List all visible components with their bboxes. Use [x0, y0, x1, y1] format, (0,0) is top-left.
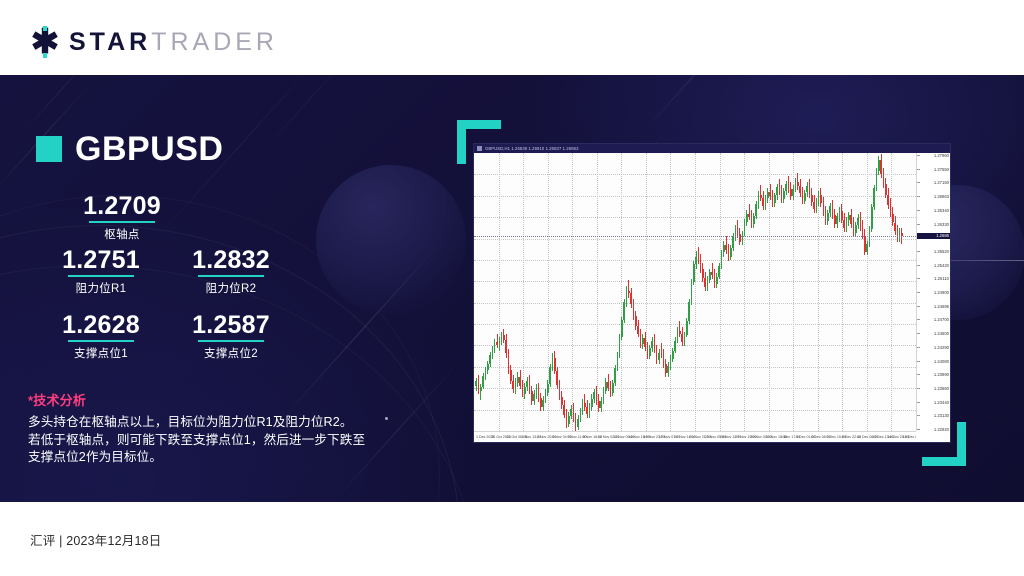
- candle-wick: [679, 321, 680, 337]
- price-tick-mark: [917, 347, 920, 348]
- levels-row-resistance: 1.2751 阻力位R1 1.2832 阻力位R2: [36, 246, 296, 311]
- page-title: GBPUSD: [36, 132, 223, 166]
- underline-rule: [68, 275, 134, 277]
- price-tick-label: 1.24695: [934, 304, 949, 309]
- price-tick-label: 1.23990: [934, 372, 949, 377]
- analysis-line-2: 若低于枢轴点，则可能下跌至支撑点位1，然后进一步下跌至: [28, 432, 408, 450]
- candlestick: [901, 153, 903, 431]
- asterisk-star-icon: ✱: [30, 27, 60, 57]
- price-tick-label: 1.24500: [934, 331, 949, 336]
- level-label: 阻力位R1: [36, 280, 166, 296]
- price-tick-mark: [917, 196, 920, 197]
- date-axis[interactable]: 1 Dec 202330 Oct 202331 Oct 06:001 Nov 1…: [474, 431, 916, 442]
- analysis-title: *技术分析: [28, 390, 408, 409]
- price-tick-label: 1.24900: [934, 290, 949, 295]
- level-value: 1.2832: [166, 246, 296, 274]
- price-tick-label: 1.26863: [934, 194, 949, 199]
- price-chart[interactable]: GBPUSD,H1 1.26839 1.26910 1.26837 1.2686…: [473, 143, 951, 443]
- price-tick-mark: [917, 265, 920, 266]
- brand-logo[interactable]: ✱ STARTRADER: [30, 27, 278, 57]
- price-tick-mark: [917, 388, 920, 389]
- price-tick-mark: [917, 361, 920, 362]
- level-value: 1.2751: [36, 246, 166, 274]
- level-cell-r2: 1.2832 阻力位R2: [166, 246, 296, 311]
- pivot-point-block: 1.2709 枢轴点: [52, 192, 192, 242]
- candlestick-series: [474, 153, 916, 431]
- candle-wick: [749, 204, 750, 220]
- price-tick-mark: [917, 155, 920, 156]
- price-tick-mark: [917, 278, 920, 279]
- brand-trader: TRADER: [151, 28, 278, 56]
- price-tick-label: 1.27150: [934, 180, 949, 185]
- slide-root: ✱ STARTRADER GBPUSD 1.2709: [0, 0, 1024, 576]
- price-tick-mark: [917, 292, 920, 293]
- candle-wick: [497, 334, 498, 347]
- decor-streak: [640, 75, 754, 136]
- pivot-label: 枢轴点: [52, 226, 192, 242]
- page-header: ✱ STARTRADER: [0, 0, 1024, 75]
- price-tick-label: 1.22920: [934, 427, 949, 432]
- level-label: 阻力位R2: [166, 280, 296, 296]
- level-value: 1.2587: [166, 311, 296, 339]
- price-tick-label: 1.25110: [934, 276, 949, 281]
- price-tick-mark: [917, 169, 920, 170]
- price-tick-mark: [917, 182, 920, 183]
- price-tick-label: 1.24080: [934, 359, 949, 364]
- price-tick-mark: [917, 429, 920, 430]
- price-tick-label: 1.27960: [934, 153, 949, 158]
- level-value: 1.2628: [36, 311, 166, 339]
- pivot-value: 1.2709: [52, 192, 192, 220]
- price-tick-label: 1.23660: [934, 386, 949, 391]
- candle-wick: [760, 185, 761, 201]
- brand-wordmark: STARTRADER: [69, 28, 278, 57]
- current-price-line: [474, 236, 916, 237]
- price-tick-mark: [917, 333, 920, 334]
- underline-rule: [198, 340, 264, 342]
- footer-caption: 汇评 | 2023年12月18日: [30, 530, 162, 549]
- decor-streak: [250, 75, 371, 166]
- page-footer: 汇评 | 2023年12月18日: [0, 502, 1024, 576]
- candle-wick: [661, 343, 662, 358]
- price-tick-label: 1.26330: [934, 222, 949, 227]
- price-tick-mark: [917, 402, 920, 403]
- price-tick-label: 1.24290: [934, 345, 949, 350]
- date-tick-label: 18 Dec 04:00: [903, 435, 916, 440]
- price-tick-mark: [917, 251, 920, 252]
- levels-grid: 1.2751 阻力位R1 1.2832 阻力位R2 1.2628 支撑点位1 1…: [36, 246, 296, 376]
- chart-window-icon: [477, 146, 482, 151]
- decor-planet-left: [316, 165, 466, 315]
- technical-analysis-block: *技术分析 多头持仓在枢轴点以上，目标位为阻力位R1及阻力位R2。 若低于枢轴点…: [28, 390, 408, 467]
- price-tick-mark: [917, 319, 920, 320]
- level-cell-s1: 1.2628 支撑点位1: [36, 311, 166, 376]
- price-axis[interactable]: 1.279601.275501.271501.268631.263401.263…: [916, 153, 950, 431]
- price-tick-label: 1.23440: [934, 400, 949, 405]
- brand-star: STAR: [69, 28, 151, 56]
- square-bullet-icon: [36, 136, 62, 162]
- levels-row-support: 1.2628 支撑点位1 1.2587 支撑点位2: [36, 311, 296, 376]
- level-cell-s2: 1.2587 支撑点位2: [166, 311, 296, 376]
- candle-wick: [712, 263, 713, 279]
- price-tick-label: 1.25520: [934, 249, 949, 254]
- price-tick-mark: [917, 415, 920, 416]
- chart-titlebar: GBPUSD,H1 1.26839 1.26910 1.26837 1.2686…: [474, 144, 950, 153]
- price-tick-label: 1.27550: [934, 167, 949, 172]
- price-tick-label: 1.24700: [934, 317, 949, 322]
- current-price-badge: 1.2686: [917, 233, 950, 239]
- underline-rule: [89, 221, 155, 223]
- price-tick-label: 1.25420: [934, 263, 949, 268]
- price-tick-mark: [917, 306, 920, 307]
- currency-pair-label: GBPUSD: [75, 132, 223, 166]
- analysis-line-3: 支撑点位2作为目标位。: [28, 449, 408, 467]
- level-label: 支撑点位1: [36, 345, 166, 361]
- chart-title-text: GBPUSD,H1 1.26839 1.26910 1.26837 1.2686…: [485, 146, 579, 151]
- candle-wick: [628, 280, 629, 298]
- price-tick-label: 1.23130: [934, 413, 949, 418]
- price-tick-mark: [917, 210, 920, 211]
- analysis-line-1: 多头持仓在枢轴点以上，目标位为阻力位R1及阻力位R2。: [28, 414, 408, 432]
- underline-rule: [68, 340, 134, 342]
- underline-rule: [198, 275, 264, 277]
- candle-wick: [698, 247, 699, 265]
- chart-plot-area[interactable]: [474, 153, 916, 431]
- price-tick-mark: [917, 224, 920, 225]
- price-tick-mark: [917, 374, 920, 375]
- level-cell-r1: 1.2751 阻力位R1: [36, 246, 166, 311]
- level-label: 支撑点位2: [166, 345, 296, 361]
- price-tick-label: 1.26340: [934, 208, 949, 213]
